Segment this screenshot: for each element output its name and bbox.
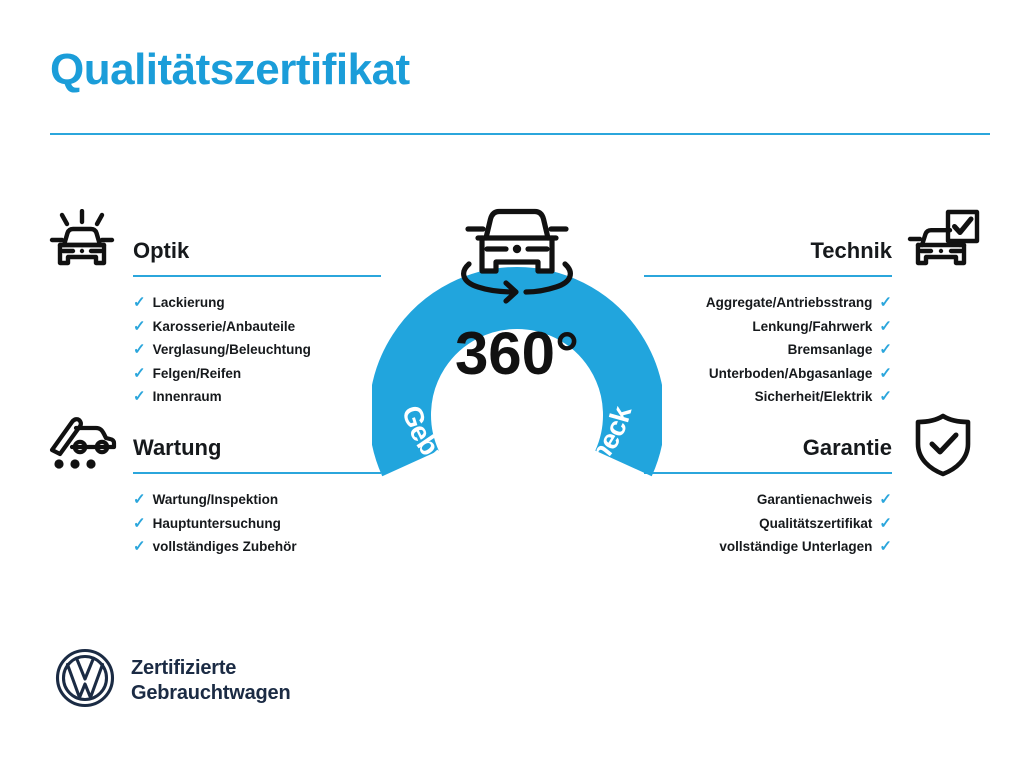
- list-item: ✓Innenraum: [133, 385, 381, 409]
- check-icon: ✓: [879, 516, 892, 531]
- section-optik-list: ✓Lackierung ✓Karosserie/Anbauteile ✓Verg…: [133, 291, 381, 409]
- check-icon: ✓: [133, 366, 146, 381]
- section-garantie: Garantie Garantienachweis✓ Qualitätszert…: [644, 435, 892, 559]
- footer-brand-line2: Gebrauchtwagen: [131, 681, 290, 706]
- list-item: vollständige Unterlagen✓: [644, 535, 892, 559]
- section-optik-header: Optik: [133, 238, 381, 280]
- list-item: Lenkung/Fahrwerk✓: [644, 315, 892, 339]
- list-item-label: Sicherheit/Elektrik: [755, 385, 873, 409]
- section-optik-title: Optik: [133, 238, 381, 264]
- check-icon: ✓: [879, 492, 892, 507]
- list-item-label: Lenkung/Fahrwerk: [752, 315, 872, 339]
- section-wartung-header: Wartung: [133, 435, 381, 477]
- check-icon: ✓: [133, 295, 146, 310]
- section-technik-list: Aggregate/Antriebsstrang✓ Lenkung/Fahrwe…: [644, 291, 892, 409]
- check-icon: ✓: [879, 539, 892, 554]
- list-item-label: Lackierung: [153, 291, 225, 315]
- list-item: ✓vollständiges Zubehör: [133, 535, 381, 559]
- list-item: ✓Wartung/Inspektion: [133, 488, 381, 512]
- section-wartung-title: Wartung: [133, 435, 381, 461]
- list-item: ✓Lackierung: [133, 291, 381, 315]
- section-technik-title: Technik: [644, 238, 892, 264]
- section-wartung-divider: [133, 472, 381, 474]
- section-technik-header: Technik: [644, 238, 892, 280]
- list-item-label: Qualitätszertifikat: [759, 512, 872, 536]
- wrench-car-service-icon: [46, 414, 118, 475]
- list-item-label: Karosserie/Anbauteile: [153, 315, 296, 339]
- list-item: ✓Verglasung/Beleuchtung: [133, 338, 381, 362]
- check-icon: ✓: [879, 295, 892, 310]
- list-item: ✓Hauptuntersuchung: [133, 512, 381, 536]
- section-optik: Optik ✓Lackierung ✓Karosserie/Anbauteile…: [133, 238, 381, 409]
- section-technik: Technik Aggregate/Antriebsstrang✓ Lenkun…: [644, 238, 892, 409]
- list-item-label: vollständige Unterlagen: [719, 535, 872, 559]
- list-item-label: Hauptuntersuchung: [153, 512, 281, 536]
- section-wartung: Wartung ✓Wartung/Inspektion ✓Hauptunters…: [133, 435, 381, 559]
- list-item: Garantienachweis✓: [644, 488, 892, 512]
- check-icon: ✓: [133, 492, 146, 507]
- shield-check-icon: [913, 413, 973, 482]
- footer-brand-wordmark: Zertifizierte Gebrauchtwagen: [131, 656, 290, 706]
- section-technik-divider: [644, 275, 892, 277]
- certificate-page: Qualitätszertifikat Optik ✓Lackierung ✓K…: [0, 0, 1024, 768]
- section-garantie-divider: [644, 472, 892, 474]
- list-item-label: Garantienachweis: [757, 488, 873, 512]
- footer-brand-line1: Zertifizierte: [131, 656, 290, 681]
- check-icon: ✓: [879, 389, 892, 404]
- list-item: Aggregate/Antriebsstrang✓: [644, 291, 892, 315]
- page-title: Qualitätszertifikat: [50, 48, 410, 92]
- list-item-label: Felgen/Reifen: [153, 362, 242, 386]
- check-icon: ✓: [879, 319, 892, 334]
- list-item-label: Verglasung/Beleuchtung: [153, 338, 311, 362]
- list-item: Bremsanlage✓: [644, 338, 892, 362]
- list-item-label: Bremsanlage: [788, 338, 873, 362]
- check-icon: ✓: [133, 516, 146, 531]
- title-divider: [50, 133, 990, 135]
- check-icon: ✓: [133, 319, 146, 334]
- list-item-label: Innenraum: [153, 385, 222, 409]
- check-icon: ✓: [879, 366, 892, 381]
- car-front-checkbox-icon: [906, 209, 980, 278]
- badge-ring-label: Gebrauchtwagen-Check: [396, 402, 637, 508]
- volkswagen-logo: [55, 648, 115, 713]
- check-icon: ✓: [133, 342, 146, 357]
- list-item: ✓Felgen/Reifen: [133, 362, 381, 386]
- section-wartung-list: ✓Wartung/Inspektion ✓Hauptuntersuchung ✓…: [133, 488, 381, 559]
- footer-brand: Zertifizierte Gebrauchtwagen: [55, 648, 290, 713]
- badge-360-gebrauchtwagen-check: Gebrauchtwagen-Check 360°: [372, 188, 662, 508]
- car-front-shine-icon: [46, 209, 118, 278]
- section-optik-divider: [133, 275, 381, 277]
- list-item: Sicherheit/Elektrik✓: [644, 385, 892, 409]
- list-item-label: Aggregate/Antriebsstrang: [706, 291, 873, 315]
- list-item-label: Unterboden/Abgasanlage: [709, 362, 873, 386]
- list-item-label: Wartung/Inspektion: [153, 488, 279, 512]
- list-item: Qualitätszertifikat✓: [644, 512, 892, 536]
- section-garantie-header: Garantie: [644, 435, 892, 477]
- list-item-label: vollständiges Zubehör: [153, 535, 297, 559]
- check-icon: ✓: [133, 389, 146, 404]
- check-icon: ✓: [879, 342, 892, 357]
- section-garantie-title: Garantie: [644, 435, 892, 461]
- check-icon: ✓: [133, 539, 146, 554]
- list-item: ✓Karosserie/Anbauteile: [133, 315, 381, 339]
- badge-center-label: 360°: [455, 320, 579, 387]
- list-item: Unterboden/Abgasanlage✓: [644, 362, 892, 386]
- section-garantie-list: Garantienachweis✓ Qualitätszertifikat✓ v…: [644, 488, 892, 559]
